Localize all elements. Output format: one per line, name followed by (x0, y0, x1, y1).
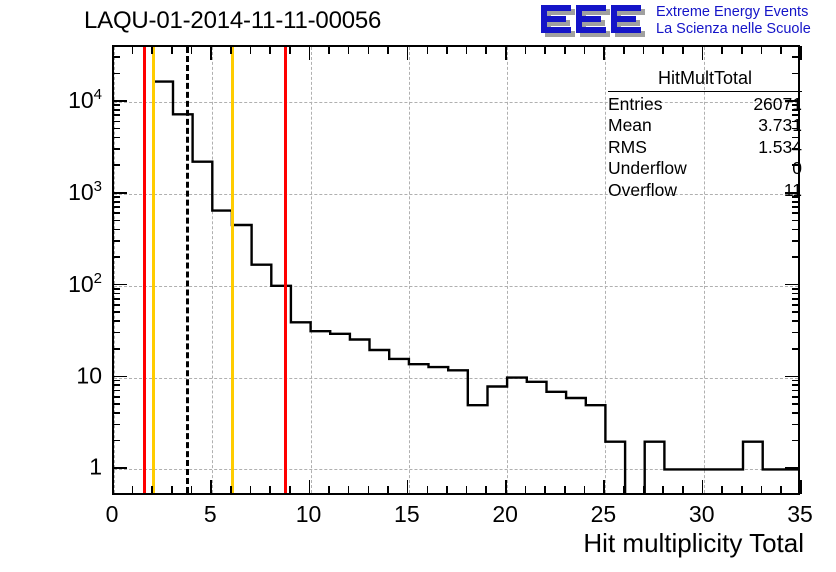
stats-row: Underflow0 (608, 158, 802, 180)
y-tick-right-minor (792, 201, 799, 203)
stats-rows: Entries26071Mean3.731RMS1.534Underflow0O… (608, 94, 802, 202)
x-tick-top-minor (682, 46, 684, 54)
y-tick-right-minor (792, 412, 799, 414)
y-tick-right-minor (792, 311, 799, 313)
y-tick-minor (113, 196, 120, 198)
x-tick-top-minor (623, 46, 625, 54)
y-tick-minor (113, 220, 120, 222)
x-tick-top-minor (171, 46, 173, 54)
x-tick-top-minor (584, 46, 586, 54)
y-tick-minor (113, 212, 120, 214)
y-tick-right-minor (792, 384, 799, 386)
eee-logo-line1: Extreme Energy Events (656, 4, 811, 21)
y-tick-right-minor (792, 220, 799, 222)
x-tick-minor (584, 486, 586, 494)
y-tick-minor (113, 320, 120, 322)
x-tick-top-minor (643, 46, 645, 54)
x-tick-top-minor (741, 46, 743, 54)
x-tick-minor (230, 486, 232, 494)
stats-value: 11 (784, 180, 802, 202)
x-tick-label: 25 (591, 501, 617, 528)
stats-row: Mean3.731 (608, 115, 802, 137)
stats-row: Overflow11 (608, 180, 802, 202)
x-tick-top-minor (446, 46, 448, 54)
y-tick-minor (113, 148, 120, 150)
y-tick-minor (113, 73, 120, 75)
marker-line-red-high (284, 47, 287, 493)
y-tick-minor (113, 56, 120, 58)
marker-line-orange-low (152, 47, 155, 493)
x-tick-minor (466, 486, 468, 494)
y-tick-minor (113, 121, 120, 123)
x-tick-top-minor (564, 46, 566, 54)
x-tick-minor (191, 486, 193, 494)
marker-line-red-low (143, 47, 146, 493)
root-canvas: LAQU-01-2014-11-11-00056 Extreme Energy … (0, 0, 836, 572)
y-tick-right-minor (792, 332, 799, 334)
y-tick-right-minor (792, 390, 799, 392)
x-tick-top-minor (151, 46, 153, 54)
y-tick-minor (113, 298, 120, 300)
y-tick-minor (113, 137, 120, 139)
stats-value: 0 (792, 158, 802, 180)
y-tick-right-minor (792, 348, 799, 350)
x-tick-minor (485, 486, 487, 494)
x-tick-top-major (505, 46, 507, 60)
y-tick-minor (113, 206, 120, 208)
y-tick-right-minor (792, 256, 799, 258)
stats-row: Entries26071 (608, 94, 802, 116)
x-tick-minor (446, 486, 448, 494)
stats-value: 26071 (753, 94, 802, 116)
x-tick-top-minor (525, 46, 527, 54)
y-tick-minor (113, 403, 120, 405)
x-tick-major (210, 480, 212, 494)
x-tick-label: 20 (492, 501, 518, 528)
x-tick-top-minor (250, 46, 252, 54)
y-tick-right-minor (792, 45, 799, 47)
y-tick-minor (113, 229, 120, 231)
x-tick-top-major (603, 46, 605, 60)
y-tick-right-minor (792, 380, 799, 382)
eee-logo-letters (541, 5, 641, 33)
y-tick-right-minor (792, 298, 799, 300)
x-tick-label: 0 (106, 501, 119, 528)
stats-key: Overflow (608, 180, 677, 202)
y-tick-right-minor (792, 403, 799, 405)
x-tick-top-minor (544, 46, 546, 54)
y-tick-label: 102 (0, 270, 102, 298)
y-tick-right-minor (792, 293, 799, 295)
y-tick-major (113, 284, 127, 286)
x-tick-minor (544, 486, 546, 494)
x-tick-major (603, 480, 605, 494)
x-tick-minor (250, 486, 252, 494)
x-tick-minor (564, 486, 566, 494)
x-tick-minor (662, 486, 664, 494)
x-tick-minor (761, 486, 763, 494)
x-tick-minor (269, 486, 271, 494)
stats-value: 1.534 (758, 137, 802, 159)
y-tick-major (113, 192, 127, 194)
x-tick-top-minor (230, 46, 232, 54)
x-axis-title: Hit multiplicity Total (583, 528, 804, 559)
y-tick-minor (113, 293, 120, 295)
y-tick-label: 103 (0, 178, 102, 206)
x-tick-minor (643, 486, 645, 494)
y-tick-minor (113, 440, 120, 442)
x-tick-minor (780, 486, 782, 494)
x-tick-major (112, 480, 114, 494)
x-tick-top-minor (132, 46, 134, 54)
x-tick-minor (151, 486, 153, 494)
x-tick-top-major (800, 46, 802, 60)
x-tick-minor (623, 486, 625, 494)
x-tick-minor (525, 486, 527, 494)
y-tick-right-major (785, 467, 799, 469)
y-tick-minor (113, 164, 120, 166)
x-tick-top-minor (289, 46, 291, 54)
y-tick-right-minor (792, 229, 799, 231)
y-tick-right-minor (792, 206, 799, 208)
x-tick-minor (348, 486, 350, 494)
x-tick-major (505, 480, 507, 494)
stats-key: Underflow (608, 158, 687, 180)
y-tick-right-minor (792, 288, 799, 290)
x-tick-top-minor (662, 46, 664, 54)
marker-line-mean-dashed (186, 47, 189, 493)
x-tick-minor (741, 486, 743, 494)
x-tick-top-minor (191, 46, 193, 54)
y-tick-minor (113, 304, 120, 306)
y-tick-right-major (785, 284, 799, 286)
x-tick-major (800, 480, 802, 494)
y-tick-minor (113, 104, 120, 106)
y-tick-major (113, 100, 127, 102)
x-tick-minor (171, 486, 173, 494)
x-tick-major (407, 480, 409, 494)
y-tick-minor (113, 348, 120, 350)
y-tick-right-minor (792, 304, 799, 306)
x-tick-top-minor (466, 46, 468, 54)
x-tick-top-minor (721, 46, 723, 54)
x-tick-minor (132, 486, 134, 494)
y-tick-label: 104 (0, 86, 102, 114)
x-tick-label: 35 (787, 501, 813, 528)
y-tick-minor (113, 424, 120, 426)
y-tick-minor (113, 240, 120, 242)
eee-logo: Extreme Energy Events La Scienza nelle S… (538, 2, 834, 42)
x-tick-top-minor (387, 46, 389, 54)
stats-key: Mean (608, 115, 652, 137)
x-tick-minor (387, 486, 389, 494)
x-tick-top-minor (485, 46, 487, 54)
x-tick-minor (328, 486, 330, 494)
y-tick-right-minor (792, 424, 799, 426)
y-tick-minor (113, 396, 120, 398)
y-tick-minor (113, 128, 120, 130)
stats-value: 3.731 (758, 115, 802, 137)
y-tick-minor (113, 288, 120, 290)
x-tick-label: 5 (204, 501, 217, 528)
y-tick-right-minor (792, 212, 799, 214)
x-tick-label: 15 (394, 501, 420, 528)
y-tick-right-minor (792, 56, 799, 58)
stats-title: HitMultTotal (608, 68, 802, 92)
y-tick-minor (113, 380, 120, 382)
y-tick-right-major (785, 376, 799, 378)
y-tick-minor (113, 256, 120, 258)
stats-key: Entries (608, 94, 662, 116)
x-tick-top-major (309, 46, 311, 60)
stats-key: RMS (608, 137, 647, 159)
x-tick-label: 30 (689, 501, 715, 528)
y-tick-major (113, 376, 127, 378)
x-tick-minor (368, 486, 370, 494)
y-tick-minor (113, 384, 120, 386)
x-tick-top-minor (328, 46, 330, 54)
y-tick-label: 1 (0, 454, 102, 481)
x-tick-top-major (702, 46, 704, 60)
y-tick-label: 10 (0, 362, 102, 389)
x-tick-top-minor (269, 46, 271, 54)
y-tick-minor (113, 109, 120, 111)
x-tick-top-minor (780, 46, 782, 54)
marker-line-orange-high (231, 47, 234, 493)
eee-logo-text: Extreme Energy Events La Scienza nelle S… (656, 4, 811, 38)
x-tick-top-minor (427, 46, 429, 54)
x-tick-label: 10 (296, 501, 322, 528)
x-tick-minor (427, 486, 429, 494)
x-tick-top-minor (761, 46, 763, 54)
eee-logo-mark (538, 2, 648, 40)
x-tick-top-major (210, 46, 212, 60)
y-tick-minor (113, 114, 120, 116)
x-tick-minor (682, 486, 684, 494)
y-tick-right-minor (792, 240, 799, 242)
x-tick-minor (721, 486, 723, 494)
page-title: LAQU-01-2014-11-11-00056 (84, 7, 381, 35)
eee-logo-line2: La Scienza nelle Scuole (656, 21, 811, 38)
y-tick-major (113, 467, 127, 469)
stats-row: RMS1.534 (608, 137, 802, 159)
y-tick-minor (113, 332, 120, 334)
y-tick-minor (113, 201, 120, 203)
y-tick-right-minor (792, 396, 799, 398)
x-tick-minor (289, 486, 291, 494)
x-tick-major (309, 480, 311, 494)
y-tick-right-minor (792, 320, 799, 322)
y-tick-minor (113, 45, 120, 47)
y-tick-minor (113, 311, 120, 313)
x-tick-top-minor (368, 46, 370, 54)
stats-box: HitMultTotal Entries26071Mean3.731RMS1.5… (608, 68, 802, 201)
x-tick-top-major (407, 46, 409, 60)
y-tick-minor (113, 412, 120, 414)
x-tick-top-minor (348, 46, 350, 54)
y-tick-right-minor (792, 440, 799, 442)
y-tick-minor (113, 390, 120, 392)
x-tick-major (702, 480, 704, 494)
